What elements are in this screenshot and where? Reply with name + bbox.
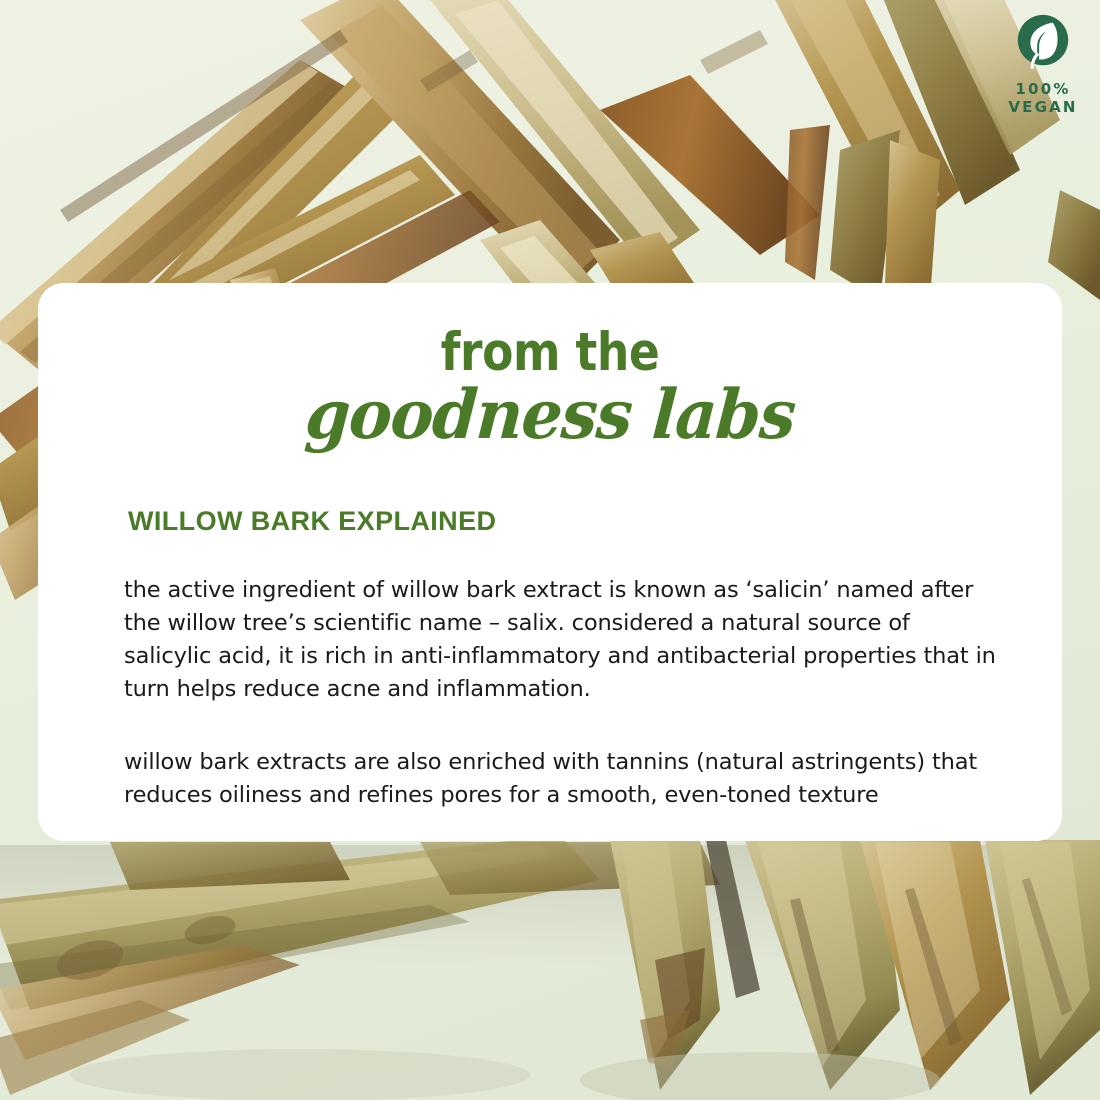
paragraph-2: willow bark extracts are also enriched w… [124, 746, 996, 812]
vegan-badge-percent: 100% [1008, 80, 1077, 98]
body-copy: the active ingredient of willow bark ext… [124, 574, 996, 811]
content-card: from the goodness labs WILLOW BARK EXPLA… [38, 283, 1062, 841]
leaf-in-circle-icon [1012, 12, 1074, 74]
paragraph-1: the active ingredient of willow bark ext… [124, 574, 996, 705]
vegan-badge: 100% VEGAN [1000, 12, 1086, 117]
brand-line-goodness-labs: goodness labs [111, 381, 990, 450]
section-title: WILLOW BARK EXPLAINED [128, 506, 1010, 537]
brand-lockup: from the goodness labs [90, 327, 1010, 450]
vegan-badge-label: VEGAN [1008, 98, 1077, 116]
brand-line-from-the: from the [154, 327, 945, 379]
vegan-badge-text: 100% VEGAN [1008, 80, 1077, 117]
